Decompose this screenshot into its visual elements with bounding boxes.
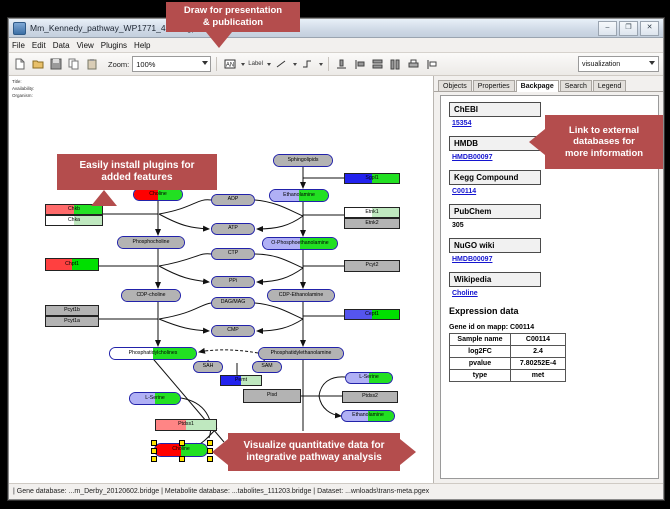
database-header: PubChem: [449, 204, 541, 219]
expression-key: type: [450, 370, 511, 382]
node-label: Pemt: [235, 378, 247, 383]
node-label: CDP-choline: [136, 293, 165, 298]
toolbar: Zoom: 100% AN Label: [9, 53, 663, 76]
node-label: Ethanolamine: [283, 193, 315, 198]
node-label: Sgpl1: [365, 176, 378, 181]
align-columns-icon[interactable]: [388, 57, 403, 72]
metabolite-node[interactable]: ADP: [211, 194, 255, 206]
database-header: NuGO wiki: [449, 238, 541, 253]
tab-legend[interactable]: Legend: [593, 80, 626, 91]
node-label: O-Phosphoethanolamine: [271, 241, 328, 246]
toolbar-separator: [216, 57, 217, 71]
node-label: Pcyt2: [366, 263, 379, 268]
metabolite-node[interactable]: CDP-choline: [121, 289, 181, 302]
gene-node[interactable]: Ptdss2: [342, 391, 398, 403]
table-row: log2FC2.4: [450, 346, 566, 358]
metabolite-node[interactable]: Phosphatidylcholines: [109, 347, 197, 360]
database-link[interactable]: HMDB00097: [452, 256, 658, 263]
metabolite-node[interactable]: Phosphocholine: [117, 236, 185, 249]
window-controls: – ❐ ✕: [598, 21, 659, 36]
database-header: ChEBI: [449, 102, 541, 117]
node-label: Pcyt1a: [64, 319, 80, 324]
metabolite-node[interactable]: Ethanolamine: [269, 189, 329, 202]
node-label: PPi: [229, 279, 237, 284]
expression-key: log2FC: [450, 346, 511, 358]
selection-handle[interactable]: [151, 440, 157, 446]
metabolite-node[interactable]: Phosphatidylethanolamine: [258, 347, 344, 360]
new-file-icon[interactable]: [12, 57, 27, 72]
selection-handle[interactable]: [151, 456, 157, 462]
node-label: DAG/MAG: [221, 300, 246, 305]
node-label: Chka: [68, 218, 80, 223]
menu-view[interactable]: View: [77, 41, 94, 50]
align-rows-icon[interactable]: [370, 57, 385, 72]
metabolite-node[interactable]: ATP: [211, 223, 255, 235]
align-left-icon[interactable]: [352, 57, 367, 72]
database-header: Wikipedia: [449, 272, 541, 287]
database-link[interactable]: Choline: [452, 290, 658, 297]
node-label: Phosphatidylcholines: [129, 351, 178, 356]
callout-quantitative-arrow-left: [212, 439, 228, 465]
label-dropdown-icon[interactable]: [267, 63, 271, 66]
gene-node[interactable]: Chka: [45, 215, 103, 226]
gene-id-line: Gene id on mapp: C00114: [449, 324, 658, 331]
metabolite-node[interactable]: CMP: [211, 325, 255, 337]
pathway-canvas[interactable]: Title: Availability: Organism:: [9, 76, 434, 483]
callout-links-arrow: [529, 129, 545, 155]
expression-value: 2.4: [511, 346, 566, 358]
expression-key: Sample name: [450, 334, 511, 346]
expression-value: C00114: [511, 334, 566, 346]
zoom-label: Zoom:: [108, 60, 129, 69]
tab-objects[interactable]: Objects: [438, 80, 472, 91]
node-label: Phosphocholine: [133, 240, 170, 245]
window-titlebar: Mm_Kennedy_pathway_WP1771_45176.gpml – ❐…: [9, 19, 663, 38]
selection-handle[interactable]: [179, 440, 185, 446]
node-label: L-Serine: [359, 375, 379, 380]
callout-plugins: Easily install plugins for added feature…: [57, 154, 217, 190]
node-label: Ethanolamine: [352, 413, 384, 418]
node-label: ADP: [228, 197, 239, 202]
table-row: typemet: [450, 370, 566, 382]
node-label: CTP: [228, 251, 238, 256]
zoom-combo[interactable]: 100%: [132, 56, 211, 72]
line-dropdown-icon[interactable]: [293, 63, 297, 66]
close-button[interactable]: ✕: [640, 21, 659, 36]
node-label: Etnk1: [365, 210, 378, 215]
database-link[interactable]: C00114: [452, 188, 658, 195]
anchor-icon[interactable]: AN: [222, 57, 237, 72]
node-label: CDP-Ethanolamine: [279, 293, 323, 298]
maximize-button[interactable]: ❐: [619, 21, 638, 36]
node-label: Sphingolipids: [288, 158, 319, 163]
connector-icon[interactable]: [300, 57, 315, 72]
tab-backpage[interactable]: Backpage: [516, 80, 559, 92]
gene-node[interactable]: Chpt1: [45, 258, 99, 271]
expression-table: Sample nameC00114log2FC2.4pvalue7.80252E…: [449, 333, 566, 382]
selection-handle[interactable]: [179, 456, 185, 462]
toolbar-separator-2: [328, 57, 329, 71]
bring-front-icon[interactable]: [424, 57, 439, 72]
open-file-icon[interactable]: [30, 57, 45, 72]
paste-icon[interactable]: [84, 57, 99, 72]
metabolite-node[interactable]: SAH: [193, 361, 223, 373]
tab-search[interactable]: Search: [560, 80, 592, 91]
label-chip[interactable]: Label: [248, 61, 263, 67]
expression-heading: Expression data: [449, 306, 658, 316]
node-label: Choline: [149, 192, 167, 197]
callout-plugins-arrow: [91, 190, 117, 206]
gene-node[interactable]: Ptdss1: [155, 419, 217, 431]
sidebar-tabs: Objects Properties Backpage Search Legen…: [434, 76, 663, 92]
node-label: CMP: [227, 328, 239, 333]
menu-data[interactable]: Data: [53, 41, 70, 50]
metabolite-node[interactable]: L-Serine: [129, 392, 181, 405]
gene-node[interactable]: Cept1: [344, 309, 400, 320]
menu-plugins[interactable]: Plugins: [101, 41, 127, 50]
database-header: Kegg Compound: [449, 170, 541, 185]
save-icon[interactable]: [48, 57, 63, 72]
expression-key: pvalue: [450, 358, 511, 370]
anchor-dropdown-icon[interactable]: [241, 63, 245, 66]
node-label: Phosphatidylethanolamine: [271, 351, 332, 356]
metabolite-node[interactable]: Sphingolipids: [273, 154, 333, 167]
connector-dropdown-icon[interactable]: [319, 63, 323, 66]
statusbar-text: | Gene database: ...m_Derby_20120602.bri…: [13, 488, 429, 495]
node-label: Pisd: [267, 393, 277, 398]
copy-icon[interactable]: [66, 57, 81, 72]
node-label: Pcyt1b: [64, 308, 80, 313]
node-label: L-Serine: [145, 396, 165, 401]
node-label: ATP: [228, 226, 238, 231]
callout-links: Link to external databases for more info…: [545, 115, 663, 169]
svg-text:AN: AN: [226, 63, 234, 69]
callout-quantitative-arrow-right: [400, 439, 416, 465]
menu-edit[interactable]: Edit: [32, 41, 46, 50]
minimize-button[interactable]: –: [598, 21, 617, 36]
callout-quantitative: Visualize quantitative data for integrat…: [228, 433, 400, 471]
metabolite-node[interactable]: CTP: [211, 248, 255, 260]
app-icon: [13, 22, 26, 35]
gene-node[interactable]: Sgpl1: [344, 173, 400, 184]
menubar: File Edit Data View Plugins Help: [9, 38, 663, 53]
screenshot-root: Mm_Kennedy_pathway_WP1771_45176.gpml – ❐…: [0, 0, 670, 509]
menu-help[interactable]: Help: [134, 41, 150, 50]
chevron-down-icon: [202, 61, 208, 65]
metabolite-node[interactable]: CDP-Ethanolamine: [267, 289, 335, 302]
metabolite-node[interactable]: Ethanolamine: [341, 410, 395, 422]
node-label: Etnk2: [365, 221, 378, 226]
table-row: pvalue7.80252E-4: [450, 358, 566, 370]
metabolite-node[interactable]: DAG/MAG: [211, 297, 255, 309]
gene-node[interactable]: Pcyt1a: [45, 316, 99, 327]
gene-node[interactable]: Pemt: [220, 375, 262, 386]
node-label: Choline: [172, 447, 190, 452]
metabolite-node[interactable]: SAM: [252, 361, 282, 373]
menu-file[interactable]: File: [12, 41, 25, 50]
chevron-down-icon-2: [649, 61, 655, 65]
metabolite-node[interactable]: L-Serine: [345, 372, 393, 384]
database-header: HMDB: [449, 136, 541, 151]
metabolite-node[interactable]: PPi: [211, 276, 255, 288]
node-label: Chpt1: [65, 262, 79, 267]
gene-node[interactable]: Etnk2: [344, 218, 400, 229]
statusbar: | Gene database: ...m_Derby_20120602.bri…: [9, 483, 663, 499]
gene-node[interactable]: Etnk1: [344, 207, 400, 218]
expression-table-body: Sample nameC00114log2FC2.4pvalue7.80252E…: [450, 334, 566, 382]
node-label: SAM: [261, 364, 272, 369]
table-row: Sample nameC00114: [450, 334, 566, 346]
callout-presentation-arrow: [206, 32, 232, 48]
node-label: Chkb: [68, 207, 80, 212]
align-top-icon[interactable]: [334, 57, 349, 72]
gene-node[interactable]: Pisd: [243, 389, 301, 403]
zoom-value: 100%: [136, 60, 155, 69]
visualization-value: visualization: [582, 61, 620, 68]
database-value: 305: [452, 222, 658, 229]
visualization-combo[interactable]: visualization: [578, 56, 659, 72]
pathvisio-window: Mm_Kennedy_pathway_WP1771_45176.gpml – ❐…: [8, 18, 664, 500]
selection-handle[interactable]: [151, 448, 157, 454]
tab-properties[interactable]: Properties: [473, 80, 515, 91]
print-icon[interactable]: [406, 57, 421, 72]
line-icon[interactable]: [274, 57, 289, 72]
node-label: Ptdss1: [178, 422, 194, 427]
expression-value: 7.80252E-4: [511, 358, 566, 370]
node-label: SAH: [203, 364, 214, 369]
gene-node[interactable]: Pcyt2: [344, 260, 400, 272]
gene-node[interactable]: Pcyt1b: [45, 305, 99, 316]
callout-presentation: Draw for presentation & publication: [166, 2, 300, 32]
metabolite-node[interactable]: O-Phosphoethanolamine: [262, 237, 338, 250]
node-label: Ptdss2: [362, 394, 378, 399]
expression-value: met: [511, 370, 566, 382]
node-label: Cept1: [365, 312, 379, 317]
